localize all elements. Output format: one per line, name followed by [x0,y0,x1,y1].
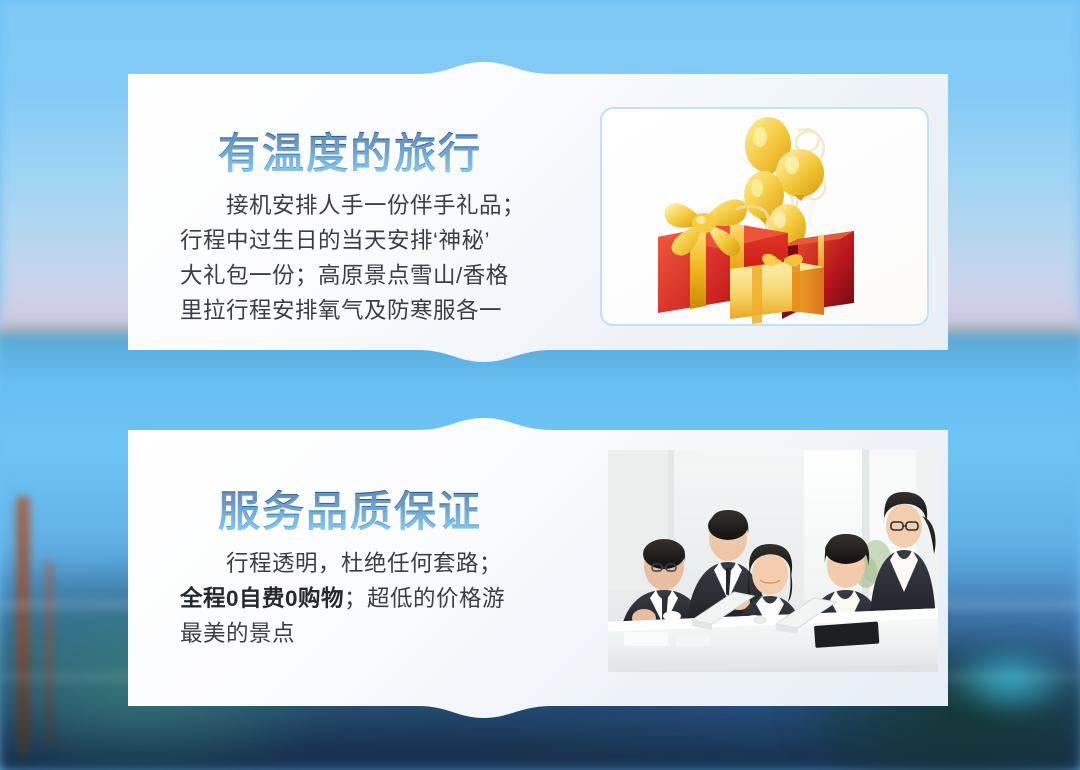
wooden-pole-secondary-icon [44,560,54,750]
card-service-quality: 服务品质保证 行程透明，杜绝任何套路； 全程0自费0购物；超低的价格游 最美的景… [128,418,948,718]
paper-sheet [624,632,668,646]
body-line: 大礼包一份；高原景点雪山/香格 [180,263,509,288]
phone [753,616,767,624]
paper-sheet [676,636,710,646]
face [752,553,788,595]
body-line: ；超低的价格游 [344,586,505,611]
wooden-pole-icon [16,496,30,756]
gift-illustration-svg [602,109,927,324]
card-body-warm-travel: 接机安排人手一份伴手礼品； 行程中过生日的当天安排‘神秘’ 大礼包一份；高原景点… [180,188,540,328]
body-line: 最美的景点 [180,621,295,646]
body-line: 行程中过生日的当天安排‘神秘’ [180,228,490,253]
body-line: 行程透明，杜绝任何套路； [180,551,502,576]
team-photo-svg [608,450,938,672]
business-team-meeting-photo [608,450,938,672]
card-body-service-quality: 行程透明，杜绝任何套路； 全程0自费0购物；超低的价格游 最美的景点 [180,546,540,651]
card-warm-travel: 有温度的旅行 接机安排人手一份伴手礼品； 行程中过生日的当天安排‘神秘’ 大礼包… [128,62,948,362]
cup [663,611,681,621]
card-title-service-quality: 服务品质保证 [218,478,482,539]
gift-boxes-balloons-illustration [600,107,929,326]
body-line-bold: 全程0自费0购物 [180,586,344,611]
body-line: 里拉行程安排氧气及防寒服各一 [180,298,502,323]
tablet [814,622,879,648]
body-line: 接机安排人手一份伴手礼品； [180,193,525,218]
card-title-warm-travel: 有温度的旅行 [218,120,482,181]
promo-graphic: 有温度的旅行 接机安排人手一份伴手礼品； 行程中过生日的当天安排‘神秘’ 大礼包… [0,0,1080,770]
